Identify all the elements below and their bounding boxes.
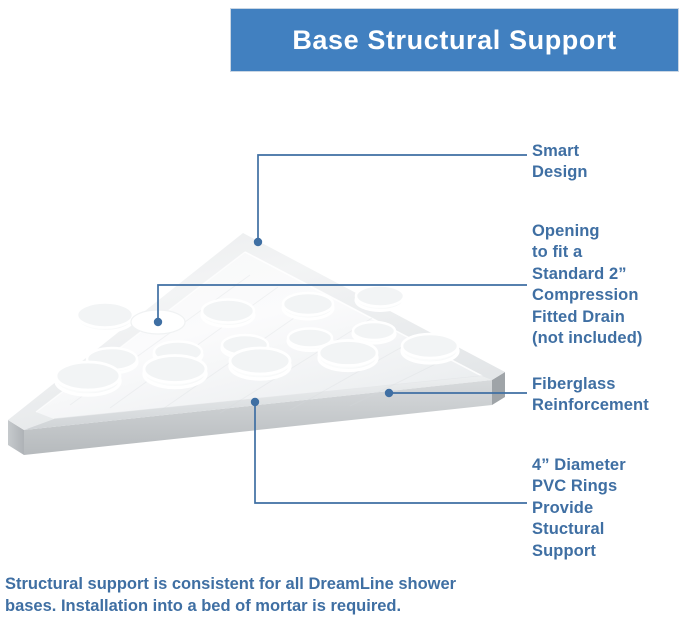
callout-label-smart-design: Smart Design [532,141,588,184]
callout-label-fiberglass-reinforcement: Fiberglass Reinforcement [532,374,649,417]
page-root: Base Structural Support [0,0,679,641]
pvc-ring [202,300,254,327]
pvc-ring [319,341,377,371]
pvc-ring [402,334,458,363]
pvc-ring [283,293,333,319]
pvc-ring [77,303,133,332]
callout-label-pvc-rings: 4” Diameter PVC Rings Provide Stuctural … [532,455,626,562]
pvc-ring [356,286,404,311]
page-title: Base Structural Support [292,25,616,56]
header-banner: Base Structural Support [230,8,679,72]
pvc-ring [230,348,290,379]
leader-smart-design [258,155,527,242]
shower-base-illustration [0,230,540,490]
pvc-ring [353,322,395,343]
pvc-ring [144,356,206,388]
drain-opening [131,310,185,334]
pvc-ring [56,362,120,395]
callout-label-drain-opening: Opening to fit a Standard 2” Compression… [532,221,642,350]
footer-caption: Structural support is consistent for all… [5,574,465,618]
